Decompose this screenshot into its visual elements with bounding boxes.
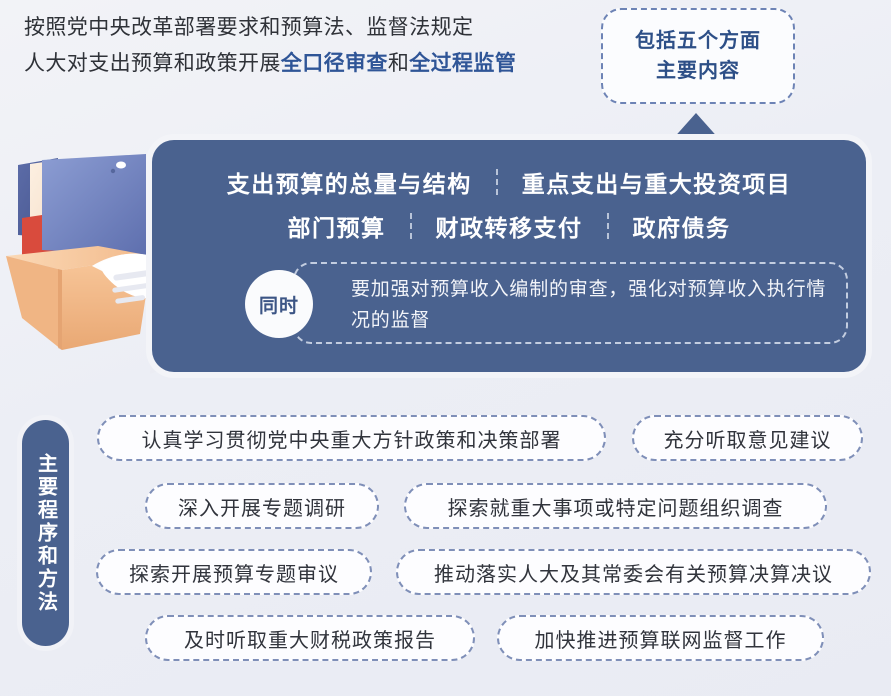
procedure-pill[interactable]: 深入开展专题调研 [145, 483, 379, 529]
procedure-pill[interactable]: 及时听取重大财税政策报告 [145, 615, 475, 661]
procedure-pill[interactable]: 加快推进预算联网监督工作 [497, 615, 824, 661]
procedure-pill[interactable]: 充分听取意见建议 [632, 415, 863, 461]
procedure-pill[interactable]: 探索就重大事项或特定问题组织调查 [404, 483, 827, 529]
procedure-pill[interactable]: 探索开展预算专题审议 [96, 549, 372, 595]
infographic-root: 按照党中央改革部署要求和预算法、监督法规定 人大对支出预算和政策开展全口径审查和… [0, 0, 891, 696]
procedure-pill[interactable]: 认真学习贯彻党中央重大方针政策和决策部署 [97, 415, 606, 461]
procedures-list: 认真学习贯彻党中央重大方针政策和决策部署充分听取意见建议深入开展专题调研探索就重… [0, 0, 891, 696]
procedure-pill[interactable]: 推动落实人大及其常委会有关预算决算决议 [396, 549, 871, 595]
